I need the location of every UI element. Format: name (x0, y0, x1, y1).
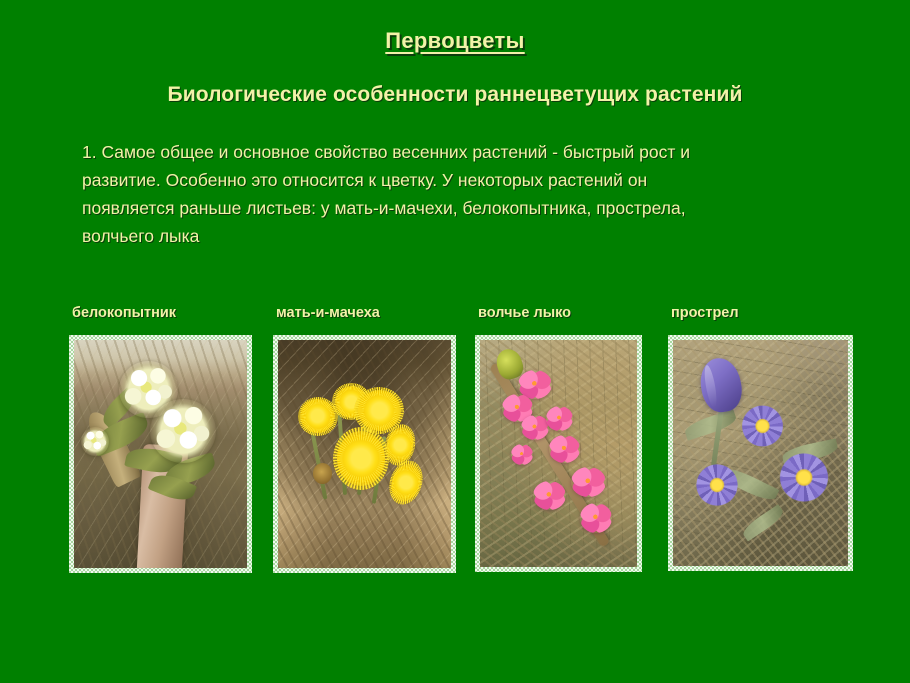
daphne-flower (549, 435, 580, 462)
coltsfoot-flower (387, 460, 425, 505)
body-line-1: 1. Самое общее и основное свойство весен… (82, 138, 782, 166)
body-paragraph: 1. Самое общее и основное свойство весен… (82, 138, 782, 250)
photo-frame-daphne (475, 335, 642, 572)
coltsfoot-photo (278, 340, 451, 568)
pasqueflower-leaf (682, 409, 737, 440)
photo-caption-butterbur: белокопытник (72, 305, 176, 321)
daphne-photo (480, 340, 637, 567)
daphne-flower (546, 406, 573, 431)
photo-frame-coltsfoot (273, 335, 456, 573)
daphne-flower (533, 481, 566, 511)
pasqueflower-photo (673, 340, 848, 566)
coltsfoot-flower (358, 390, 401, 431)
pasqueflower-bloom (733, 399, 793, 453)
photo-caption-daphne: волчье лыко (478, 305, 571, 321)
daphne-flower (521, 415, 549, 440)
pasqueflower-leaf (740, 505, 785, 542)
butterbur-photo (74, 340, 247, 568)
daphne-flower (511, 444, 533, 464)
butterbur-flower-cluster (81, 427, 109, 457)
butterbur-flower-cluster (150, 399, 216, 463)
pasqueflower-bloom (687, 458, 747, 512)
daphne-flower (571, 467, 606, 497)
pasqueflower-bud (697, 355, 746, 415)
page-title: Первоцветы (0, 28, 910, 54)
photo-gallery: белокопытник мать-и-мачеха (0, 305, 910, 575)
photo-caption-pasqueflower: прострел (671, 305, 739, 321)
coltsfoot-flower (337, 431, 385, 486)
slide-subtitle: Биологические особенности раннецветущих … (0, 83, 910, 107)
body-line-2: развитие. Особенно это относится к цветк… (82, 166, 782, 194)
coltsfoot-bud (313, 463, 332, 484)
daphne-flower (580, 503, 611, 533)
photo-caption-coltsfoot: мать-и-мачеха (276, 305, 380, 321)
pasqueflower-bloom (769, 446, 839, 509)
body-line-4: волчьего лыка (82, 222, 782, 250)
photo-frame-butterbur (69, 335, 252, 573)
coltsfoot-flower (300, 399, 335, 433)
photo-frame-pasqueflower (668, 335, 853, 571)
body-line-3: появляется раньше листьев: у мать-и-маче… (82, 194, 782, 222)
slide-canvas: Первоцветы Биологические особенности ран… (0, 0, 910, 683)
